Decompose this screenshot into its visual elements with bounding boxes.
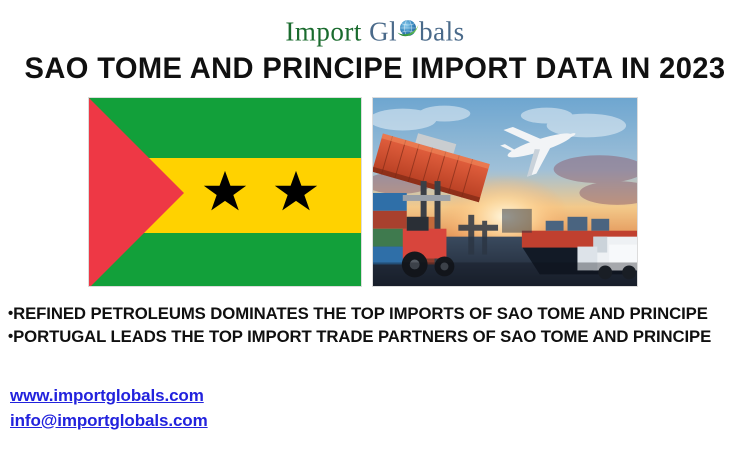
globe-icon (396, 16, 420, 40)
email-link[interactable]: info@importglobals.com (10, 409, 208, 434)
flag-red-triangle (89, 98, 184, 287)
brand-logo: Import Gl (0, 16, 750, 45)
infographic-banner: Import Gl (0, 0, 750, 450)
logistics-cargo-photo (372, 97, 638, 287)
sao-tome-and-principe-flag-icon (88, 97, 362, 287)
highlight-item-1: •REFINED PETROLEUMS DOMINATES THE TOP IM… (8, 303, 733, 326)
logo-text-import: Import (285, 16, 362, 46)
website-link[interactable]: www.importglobals.com (10, 384, 208, 409)
logo-text-gl: Gl (369, 16, 397, 46)
highlight-item-2: •PORTUGAL LEADS THE TOP IMPORT TRADE PAR… (8, 326, 733, 349)
logo-text-bals: bals (419, 16, 465, 46)
highlight-text-1: REFINED PETROLEUMS DOMINATES THE TOP IMP… (13, 304, 708, 323)
contact-footer: www.importglobals.com info@importglobals… (10, 384, 208, 433)
media-band (88, 97, 638, 287)
highlight-text-2: PORTUGAL LEADS THE TOP IMPORT TRADE PART… (13, 327, 711, 346)
page-title: SAO TOME AND PRINCIPE IMPORT DATA IN 202… (11, 52, 739, 86)
highlights-list: •REFINED PETROLEUMS DOMINATES THE TOP IM… (8, 303, 744, 349)
